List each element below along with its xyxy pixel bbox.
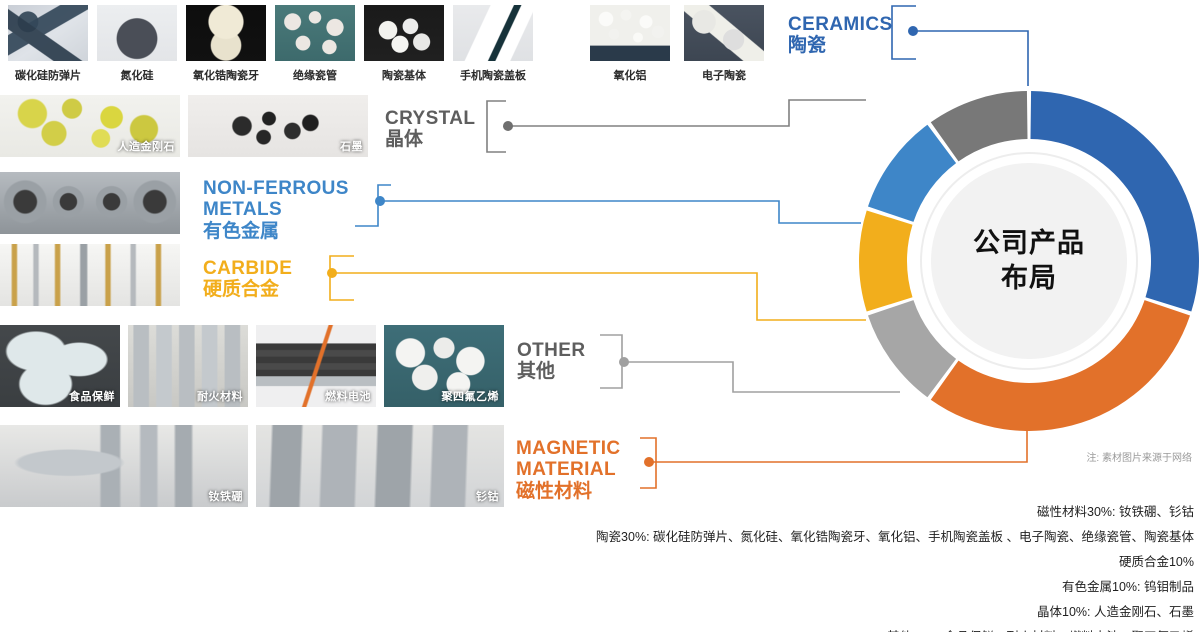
legend-block: 磁性材料30%: 钕铁硼、钐钴 陶瓷30%: 碳化硅防弹片、氮化硅、氧化锆陶瓷牙…	[4, 500, 1194, 632]
connector-dot	[908, 26, 918, 36]
donut-chart: 公司产品 布局	[856, 88, 1202, 434]
category-label-cn: 有色金属	[203, 221, 349, 242]
legend-line: 有色金属10%: 钨钼制品	[4, 575, 1194, 600]
category-label-cn: 其他	[517, 361, 586, 382]
category-label-carbide[interactable]: CARBIDE 硬质合金	[203, 258, 292, 301]
connector-magnetic	[640, 430, 1027, 488]
donut-center-label: 公司产品 布局	[931, 163, 1127, 359]
infographic-canvas: 碳化硅防弹片 氮化硅 氧化锆陶瓷牙 绝缘瓷管 陶瓷基体 手机陶瓷盖板 氧化铝 电…	[0, 0, 1204, 632]
connector-ceramics	[892, 6, 1028, 86]
category-label-nonferrous[interactable]: NON-FERROUS METALS 有色金属	[203, 178, 349, 242]
category-label-cn: 晶体	[385, 129, 475, 150]
category-label-crystal[interactable]: CRYSTAL 晶体	[385, 108, 475, 151]
donut-center-line1: 公司产品	[973, 226, 1085, 261]
category-label-en: CARBIDE	[203, 258, 292, 279]
connector-carbide	[327, 256, 866, 320]
legend-line: 磁性材料30%: 钕铁硼、钐钴	[4, 500, 1194, 525]
donut-slice[interactable]	[859, 210, 913, 311]
category-label-en-2: METALS	[203, 199, 349, 220]
category-label-en: CERAMICS	[788, 14, 893, 35]
connector-dot	[644, 457, 654, 467]
legend-line: 硬质合金10%	[4, 550, 1194, 575]
connector-dot	[503, 121, 513, 131]
connector-dot	[375, 196, 385, 206]
legend-line: 陶瓷30%: 碳化硅防弹片、氮化硅、氧化锆陶瓷牙、氧化铝、手机陶瓷盖板 、电子陶…	[4, 525, 1194, 550]
connector-crystal	[487, 100, 866, 152]
category-label-en-2: MATERIAL	[516, 459, 621, 480]
legend-line: 其他10%: 食品保鲜、耐火材料、燃料电池、聚四氟乙烯	[4, 625, 1194, 632]
connector-dot	[619, 357, 629, 367]
category-label-magnetic[interactable]: MAGNETIC MATERIAL 磁性材料	[516, 438, 621, 502]
category-label-en: NON-FERROUS	[203, 178, 349, 199]
category-label-cn: 硬质合金	[203, 279, 292, 300]
category-label-cn: 磁性材料	[516, 481, 621, 502]
donut-center-line2: 布局	[1001, 261, 1057, 296]
legend-line: 晶体10%: 人造金刚石、石墨	[4, 600, 1194, 625]
category-label-cn: 陶瓷	[788, 35, 893, 56]
category-label-ceramics[interactable]: CERAMICS 陶瓷	[788, 14, 893, 57]
connector-dot	[327, 268, 337, 278]
category-label-other[interactable]: OTHER 其他	[517, 340, 586, 383]
category-label-en: CRYSTAL	[385, 108, 475, 129]
source-note: 注: 素材图片来源于网络	[1086, 449, 1192, 464]
category-label-en: MAGNETIC	[516, 438, 621, 459]
category-label-en: OTHER	[517, 340, 586, 361]
connector-other	[600, 335, 900, 392]
connector-nonferrous	[355, 185, 861, 226]
